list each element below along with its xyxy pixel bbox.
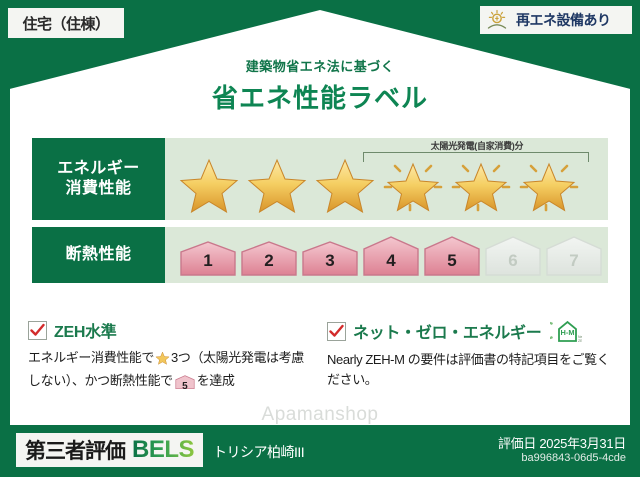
net-zero-energy-header: ネット・ゼロ・エネルギー H-M Nearly ZEH-M: [327, 318, 612, 344]
energy-performance-label: 住宅（住棟） 再エネ設備あり 建築物省エネ法に基づく 省エネ性能ラベル: [0, 0, 640, 477]
check-icon: [28, 321, 47, 340]
star-solar-icon: [449, 153, 513, 213]
bels-jp-text: 第三者評価: [25, 435, 125, 465]
svg-text:ZEH-M: ZEH-M: [578, 339, 582, 343]
star-icon: [177, 153, 241, 213]
star-rating-group: [165, 153, 581, 213]
insulation-level-number: 5: [423, 251, 481, 271]
star-solar-icon: [381, 153, 445, 213]
insulation-level-number: 3: [301, 251, 359, 271]
housing-type-badge: 住宅（住棟）: [8, 8, 124, 38]
zeh-standard-header: ZEH水準: [28, 318, 313, 342]
housing-type-label: 住宅（住棟）: [22, 13, 109, 34]
zeh-standard-title: ZEH水準: [54, 318, 117, 342]
insulation-rating-body: 1 2 3: [165, 227, 608, 283]
renewable-energy-badge: 再エネ設備あり: [480, 6, 632, 34]
insulation-level-number: 2: [240, 251, 298, 271]
sun-solar-icon: [486, 9, 512, 31]
energy-rating-body: 太陽光発電(自家消費)分: [165, 138, 608, 220]
insulation-level-house: 2: [240, 240, 298, 276]
evaluation-id: ba996843-06d5-4cde: [521, 452, 626, 464]
insulation-level-house: 6: [484, 235, 542, 276]
insulation-level-house: 7: [545, 235, 603, 276]
net-zero-energy-description: Nearly ZEH-M の要件は評価書の特記項目をご覧ください。: [327, 350, 612, 390]
insulation-level-house: 1: [179, 240, 237, 276]
title-main: 省エネ性能ラベル: [0, 78, 640, 115]
insulation-level-group: 1 2 3: [165, 235, 603, 276]
insulation-label-text: 断熱性能: [65, 245, 131, 265]
insulation-performance-row: 断熱性能 1: [32, 227, 608, 283]
energy-label-line1: エネルギー: [57, 159, 140, 179]
zeh-text-part-d: を達成: [197, 373, 235, 388]
zeh-standard-description: エネルギー消費性能で 3つ（太陽光発電は考慮しない）、かつ断熱性能で 5 を達成: [28, 348, 313, 395]
inline-insulation-house-icon: 5: [175, 375, 195, 395]
zeh-standard-column: ZEH水準 エネルギー消費性能で 3つ（太陽光発電は考慮しない）、かつ断熱性能で…: [28, 318, 313, 395]
solar-annotation-text: 太陽光発電(自家消費)分: [361, 139, 593, 152]
evaluation-date: 評価日 2025年3月31日: [498, 433, 626, 452]
insulation-level-number: 1: [179, 251, 237, 271]
property-name: トリシア柏崎III: [213, 442, 304, 462]
energy-label-line2: 消費性能: [65, 179, 131, 199]
energy-performance-row: エネルギー 消費性能 太陽光発電(自家消費)分: [32, 138, 608, 220]
inline-house-number: 5: [175, 379, 195, 395]
insulation-level-number: 4: [362, 251, 420, 271]
star-solar-icon: [517, 153, 581, 213]
footer-bar: 第三者評価 BELS トリシア柏崎III 評価日 2025年3月31日 ba99…: [0, 425, 640, 477]
bels-badge: 第三者評価 BELS: [16, 433, 203, 467]
net-zero-energy-title: ネット・ゼロ・エネルギー: [353, 319, 541, 343]
svg-text:H-M: H-M: [561, 328, 575, 337]
insulation-level-number: 7: [545, 251, 603, 271]
insulation-level-house: 5: [423, 235, 481, 276]
rating-section: エネルギー 消費性能 太陽光発電(自家消費)分: [32, 138, 608, 290]
zeh-text-part-b: 3つ（太陽光発電: [171, 350, 266, 365]
label-title-block: 建築物省エネ法に基づく 省エネ性能ラベル: [0, 56, 640, 115]
inline-star-icon: [155, 350, 170, 371]
bels-logo-text: BELS: [132, 436, 194, 464]
zeh-m-logo-icon: H-M Nearly ZEH-M: [550, 318, 582, 344]
star-icon: [245, 153, 309, 213]
renewable-energy-label: 再エネ設備あり: [516, 10, 611, 30]
title-subtitle: 建築物省エネ法に基づく: [0, 56, 640, 75]
insulation-level-house: 3: [301, 240, 359, 276]
check-icon: [327, 322, 346, 341]
zeh-criteria-section: ZEH水準 エネルギー消費性能で 3つ（太陽光発電は考慮しない）、かつ断熱性能で…: [28, 318, 612, 395]
insulation-level-number: 6: [484, 251, 542, 271]
net-zero-energy-column: ネット・ゼロ・エネルギー H-M Nearly ZEH-M Nearly ZEH…: [327, 318, 612, 395]
energy-performance-label: エネルギー 消費性能: [32, 138, 165, 220]
insulation-performance-label: 断熱性能: [32, 227, 165, 283]
star-icon: [313, 153, 377, 213]
insulation-level-house: 4: [362, 235, 420, 276]
zeh-text-part-a: エネルギー消費性能で: [28, 350, 154, 365]
